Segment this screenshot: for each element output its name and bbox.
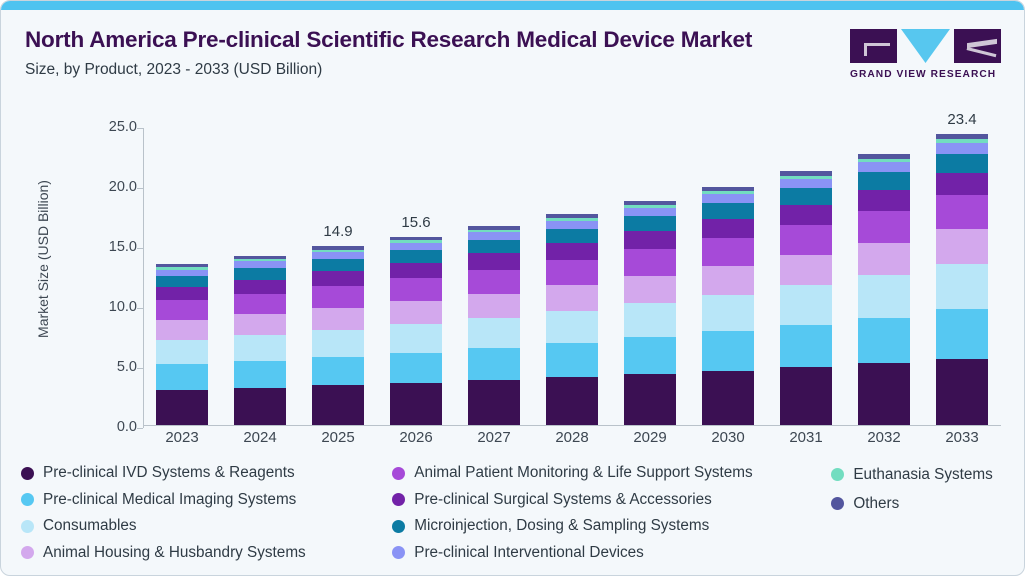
- bar-value-label: 15.6: [379, 214, 453, 231]
- x-axis-label-2030: 2030: [691, 429, 765, 446]
- chart-card: North America Pre-clinical Scientific Re…: [0, 0, 1025, 576]
- bar-segment[interactable]: [468, 232, 520, 240]
- legend-swatch-icon: [21, 467, 34, 480]
- bar-value-label: 14.9: [301, 223, 375, 240]
- bar-segment[interactable]: [936, 229, 988, 264]
- y-axis-title: Market Size (USD Billion): [35, 149, 51, 369]
- bar-group-2031[interactable]: [769, 119, 843, 425]
- bar-segment[interactable]: [234, 388, 286, 425]
- bar-segment[interactable]: [468, 348, 520, 380]
- logo-text: GRAND VIEW RESEARCH: [850, 69, 1002, 80]
- legend-label: Euthanasia Systems: [853, 466, 992, 484]
- y-axis-tick-label: 5.0: [81, 359, 137, 375]
- bar-segment[interactable]: [936, 195, 988, 229]
- x-axis-label-2026: 2026: [379, 429, 453, 446]
- bar-segment[interactable]: [780, 255, 832, 286]
- bar-segment[interactable]: [468, 318, 520, 348]
- bar-segment[interactable]: [312, 286, 364, 308]
- bar-segment[interactable]: [390, 353, 442, 383]
- stacked-bar[interactable]: [936, 134, 988, 425]
- bar-segment[interactable]: [156, 287, 208, 300]
- bar-segment[interactable]: [702, 194, 754, 203]
- y-axis-tick-mark: [137, 308, 143, 309]
- bar-segment[interactable]: [234, 280, 286, 294]
- bar-series-container: 14.915.623.4: [143, 119, 1001, 425]
- bar-group-2027[interactable]: [457, 119, 531, 425]
- bar-segment[interactable]: [390, 278, 442, 301]
- logo-r-icon: [954, 29, 1001, 63]
- bar-segment[interactable]: [312, 259, 364, 271]
- bar-segment[interactable]: [624, 303, 676, 337]
- bar-segment[interactable]: [780, 367, 832, 425]
- legend-swatch-icon: [392, 546, 405, 559]
- legend-item[interactable]: Pre-clinical Medical Imaging Systems: [21, 490, 392, 511]
- bar-segment[interactable]: [702, 219, 754, 238]
- bar-group-2029[interactable]: [613, 119, 687, 425]
- stacked-bar[interactable]: [624, 201, 676, 425]
- bar-segment[interactable]: [468, 240, 520, 253]
- legend-item[interactable]: Animal Housing & Husbandry Systems: [21, 543, 392, 564]
- bar-segment[interactable]: [312, 271, 364, 286]
- y-axis-tick-label: 0.0: [81, 419, 137, 435]
- bar-segment[interactable]: [624, 208, 676, 217]
- x-axis-label-2033: 2033: [925, 429, 999, 446]
- bar-value-label: 23.4: [925, 111, 999, 128]
- bar-segment[interactable]: [858, 363, 910, 425]
- bar-segment[interactable]: [702, 203, 754, 219]
- legend-label: Animal Patient Monitoring & Life Support…: [414, 464, 752, 482]
- page-title: North America Pre-clinical Scientific Re…: [25, 25, 755, 54]
- bar-segment[interactable]: [312, 357, 364, 385]
- legend-item[interactable]: Pre-clinical Surgical Systems & Accessor…: [392, 490, 831, 511]
- chart-header: North America Pre-clinical Scientific Re…: [25, 25, 825, 79]
- stacked-bar[interactable]: [468, 226, 520, 425]
- legend-swatch-icon: [831, 497, 844, 510]
- bar-segment[interactable]: [234, 268, 286, 280]
- bar-segment[interactable]: [390, 250, 442, 263]
- stacked-bar[interactable]: [702, 187, 754, 425]
- bar-segment[interactable]: [936, 154, 988, 173]
- bar-group-2033[interactable]: 23.4: [925, 119, 999, 425]
- y-axis-tick-mark: [137, 188, 143, 189]
- bar-segment[interactable]: [156, 364, 208, 389]
- legend-label: Others: [853, 495, 899, 513]
- y-axis-ticks: 25.020.015.010.05.00.0: [77, 119, 137, 457]
- legend-label: Pre-clinical Surgical Systems & Accessor…: [414, 491, 712, 509]
- stacked-bar[interactable]: [312, 246, 364, 425]
- y-axis-tick-label: 15.0: [81, 239, 137, 255]
- bar-segment[interactable]: [468, 294, 520, 319]
- stacked-bar[interactable]: [858, 154, 910, 425]
- legend-item[interactable]: Others: [831, 492, 1011, 515]
- legend-item[interactable]: Pre-clinical IVD Systems & Reagents: [21, 463, 392, 484]
- bar-group-2023[interactable]: [145, 119, 219, 425]
- y-axis-tick-mark: [137, 368, 143, 369]
- bar-segment[interactable]: [624, 216, 676, 231]
- legend-item[interactable]: Pre-clinical Interventional Devices: [392, 543, 831, 564]
- legend-label: Pre-clinical Interventional Devices: [414, 544, 644, 562]
- grand-view-research-logo: GRAND VIEW RESEARCH: [850, 29, 1002, 80]
- bar-segment[interactable]: [624, 374, 676, 425]
- bar-segment[interactable]: [702, 331, 754, 370]
- stacked-bar[interactable]: [780, 171, 832, 425]
- y-axis-tick-mark: [137, 428, 143, 429]
- bar-segment[interactable]: [936, 264, 988, 310]
- bar-segment[interactable]: [234, 314, 286, 335]
- legend-label: Pre-clinical Medical Imaging Systems: [43, 491, 296, 509]
- bar-segment[interactable]: [780, 225, 832, 255]
- bar-segment[interactable]: [546, 377, 598, 425]
- bar-segment[interactable]: [390, 324, 442, 353]
- x-axis-label-2027: 2027: [457, 429, 531, 446]
- bar-segment[interactable]: [702, 295, 754, 332]
- bar-segment[interactable]: [858, 275, 910, 317]
- y-axis-tick-label: 10.0: [81, 299, 137, 315]
- bar-segment[interactable]: [702, 238, 754, 266]
- bar-group-2032[interactable]: [847, 119, 921, 425]
- bar-segment[interactable]: [156, 340, 208, 364]
- bar-segment[interactable]: [936, 359, 988, 425]
- bar-segment[interactable]: [234, 335, 286, 361]
- bar-segment[interactable]: [936, 143, 988, 154]
- bar-segment[interactable]: [780, 205, 832, 225]
- bar-segment[interactable]: [312, 330, 364, 357]
- legend-label: Animal Housing & Husbandry Systems: [43, 544, 306, 562]
- chart-plot-area: Market Size (USD Billion) 25.020.015.010…: [1, 119, 1025, 457]
- bar-segment[interactable]: [312, 308, 364, 330]
- bar-segment[interactable]: [312, 252, 364, 259]
- legend-item[interactable]: Euthanasia Systems: [831, 463, 1011, 486]
- bar-segment[interactable]: [858, 318, 910, 364]
- legend-swatch-icon: [21, 493, 34, 506]
- legend-column-3: Euthanasia SystemsOthers: [831, 463, 1011, 563]
- bar-group-2026[interactable]: 15.6: [379, 119, 453, 425]
- bar-segment[interactable]: [156, 320, 208, 340]
- bar-segment[interactable]: [936, 309, 988, 358]
- x-axis-line: [143, 425, 1001, 426]
- bar-segment[interactable]: [546, 260, 598, 285]
- bar-segment[interactable]: [780, 179, 832, 189]
- bar-segment[interactable]: [234, 261, 286, 268]
- logo-g-icon: [850, 29, 897, 63]
- bar-group-2028[interactable]: [535, 119, 609, 425]
- x-axis-label-2032: 2032: [847, 429, 921, 446]
- bar-segment[interactable]: [624, 249, 676, 276]
- bar-group-2030[interactable]: [691, 119, 765, 425]
- top-accent-bar: [1, 1, 1024, 10]
- bar-segment[interactable]: [780, 285, 832, 324]
- bar-segment[interactable]: [390, 383, 442, 425]
- bar-segment[interactable]: [468, 270, 520, 294]
- legend-swatch-icon: [392, 493, 405, 506]
- x-axis-label-2028: 2028: [535, 429, 609, 446]
- bar-segment[interactable]: [390, 301, 442, 324]
- legend-swatch-icon: [21, 520, 34, 533]
- legend-item[interactable]: Animal Patient Monitoring & Life Support…: [392, 463, 831, 484]
- bar-segment[interactable]: [858, 211, 910, 243]
- y-axis-tick-label: 25.0: [81, 119, 137, 135]
- bar-segment[interactable]: [156, 390, 208, 425]
- chart-subtitle: Size, by Product, 2023 - 2033 (USD Billi…: [25, 61, 825, 79]
- legend-column-1: Pre-clinical IVD Systems & ReagentsPre-c…: [21, 463, 392, 563]
- y-axis-tick-label: 20.0: [81, 179, 137, 195]
- bar-segment[interactable]: [468, 253, 520, 269]
- x-axis-label-2023: 2023: [145, 429, 219, 446]
- stacked-bar[interactable]: [546, 214, 598, 425]
- legend-column-2: Animal Patient Monitoring & Life Support…: [392, 463, 831, 563]
- legend-swatch-icon: [21, 546, 34, 559]
- bar-segment[interactable]: [156, 276, 208, 287]
- logo-marks: [850, 29, 1002, 63]
- legend-swatch-icon: [392, 520, 405, 533]
- bar-segment[interactable]: [702, 266, 754, 295]
- bar-segment[interactable]: [780, 188, 832, 205]
- bar-segment[interactable]: [780, 325, 832, 367]
- x-axis-label-2031: 2031: [769, 429, 843, 446]
- bar-group-2025[interactable]: 14.9: [301, 119, 375, 425]
- bar-segment[interactable]: [312, 385, 364, 425]
- legend-label: Consumables: [43, 517, 137, 535]
- bar-segment[interactable]: [546, 285, 598, 311]
- x-axis-label-2024: 2024: [223, 429, 297, 446]
- bar-segment[interactable]: [546, 229, 598, 243]
- bar-segment[interactable]: [624, 231, 676, 249]
- bar-segment[interactable]: [546, 311, 598, 343]
- bar-segment[interactable]: [390, 263, 442, 278]
- bar-segment[interactable]: [624, 337, 676, 374]
- bar-segment[interactable]: [390, 243, 442, 250]
- bar-segment[interactable]: [468, 380, 520, 425]
- x-axis-label-2029: 2029: [613, 429, 687, 446]
- legend-swatch-icon: [392, 467, 405, 480]
- y-axis-tick-mark: [137, 128, 143, 129]
- bar-segment[interactable]: [156, 300, 208, 320]
- bar-segment[interactable]: [546, 221, 598, 229]
- bar-segment[interactable]: [858, 172, 910, 190]
- stacked-bar[interactable]: [390, 237, 442, 425]
- logo-v-triangle-icon: [901, 29, 950, 63]
- bar-segment[interactable]: [546, 343, 598, 377]
- stacked-bar[interactable]: [156, 264, 208, 425]
- bar-segment[interactable]: [936, 173, 988, 196]
- bar-segment[interactable]: [234, 294, 286, 315]
- legend-item[interactable]: Consumables: [21, 516, 392, 537]
- bar-group-2024[interactable]: [223, 119, 297, 425]
- chart-legend: Pre-clinical IVD Systems & ReagentsPre-c…: [21, 463, 1011, 563]
- bar-segment[interactable]: [234, 361, 286, 388]
- stacked-bar[interactable]: [234, 256, 286, 425]
- x-axis-label-2025: 2025: [301, 429, 375, 446]
- legend-swatch-icon: [831, 468, 844, 481]
- bar-segment[interactable]: [858, 243, 910, 276]
- bar-segment[interactable]: [858, 190, 910, 211]
- legend-label: Microinjection, Dosing & Sampling System…: [414, 517, 709, 535]
- bar-segment[interactable]: [858, 162, 910, 172]
- bar-segment[interactable]: [546, 243, 598, 260]
- x-axis-labels: 2023202420252026202720282029203020312032…: [143, 429, 1001, 446]
- bar-segment[interactable]: [624, 276, 676, 303]
- bar-segment[interactable]: [702, 371, 754, 425]
- y-axis-tick-mark: [137, 248, 143, 249]
- legend-label: Pre-clinical IVD Systems & Reagents: [43, 464, 295, 482]
- legend-item[interactable]: Microinjection, Dosing & Sampling System…: [392, 516, 831, 537]
